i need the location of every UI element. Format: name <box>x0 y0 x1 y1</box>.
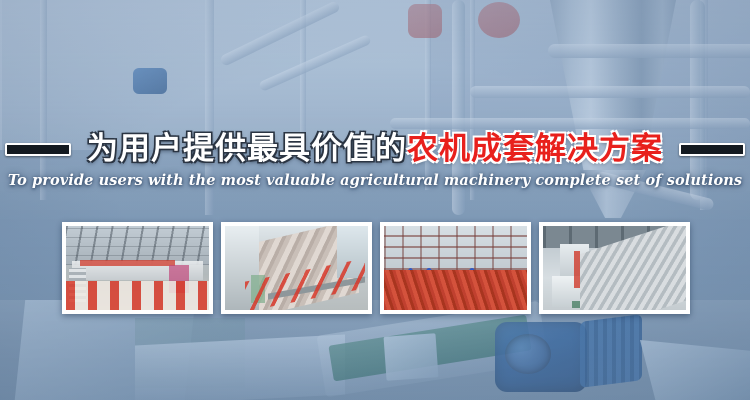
thumbnail-workers-drying-chilies[interactable] <box>380 222 531 314</box>
operator-figure <box>251 275 265 304</box>
background-vignette <box>0 0 750 400</box>
white-sack <box>453 292 468 307</box>
room-wall-right <box>337 226 368 278</box>
thumbnail-image-1 <box>66 226 209 310</box>
worker-figure <box>447 278 457 305</box>
dash-right-icon <box>679 143 745 156</box>
thumbnail-image-4 <box>543 226 686 310</box>
worker-figure <box>424 275 434 305</box>
headline-row: 为用户提供最具价值的农机成套解决方案 <box>0 126 750 172</box>
thumbnail-image-2 <box>225 226 368 310</box>
worker-figure <box>169 265 189 294</box>
red-product-band <box>80 260 174 267</box>
red-post <box>574 251 580 288</box>
room-wall-left <box>225 226 259 310</box>
worker-figure-green <box>490 283 497 305</box>
headline-red-part: 农机成套解决方案 <box>407 131 663 167</box>
subtitle-text: To provide users with the most valuable … <box>0 172 750 189</box>
orange-produce-on-belt <box>603 241 686 308</box>
thumbnail-chili-packing-line[interactable] <box>62 222 213 314</box>
headline-text: 为用户提供最具价值的农机成套解决方案 <box>87 134 663 165</box>
dash-left-icon <box>5 143 71 156</box>
thumbnail-produce-elevator-conveyor[interactable] <box>539 222 690 314</box>
headline-white-part: 为用户提供最具价值的 <box>87 131 407 167</box>
conveyor-rail <box>268 276 365 299</box>
thumbnail-inclined-chili-conveyor[interactable] <box>221 222 372 314</box>
background-photo <box>0 0 750 400</box>
thumbnail-image-3 <box>384 226 527 310</box>
hero-banner: 为用户提供最具价值的农机成套解决方案 To provide users with… <box>0 0 750 400</box>
worker-figure <box>467 275 477 305</box>
worker-figure <box>405 275 415 305</box>
storage-rack <box>69 268 86 302</box>
green-floor-mat <box>572 301 621 309</box>
thumbnail-strip <box>62 222 690 314</box>
